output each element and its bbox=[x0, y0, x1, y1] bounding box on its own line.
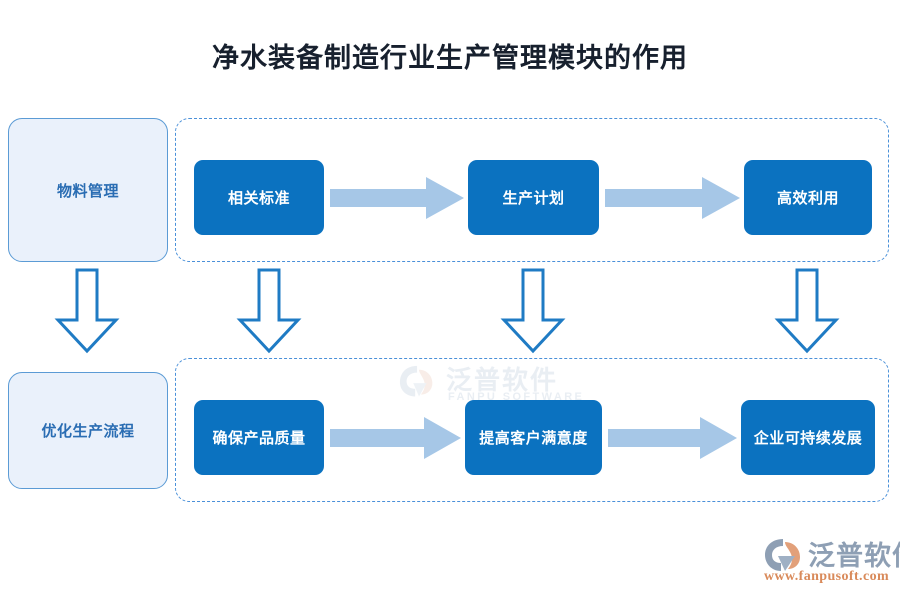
node-bottom-1[interactable]: 确保产品质量 bbox=[194, 400, 324, 475]
node-bottom-3[interactable]: 企业可持续发展 bbox=[741, 400, 875, 475]
node-top-3[interactable]: 高效利用 bbox=[744, 160, 872, 235]
brand-url: www.fanpusoft.com bbox=[764, 569, 889, 585]
down-arrow-2 bbox=[236, 268, 302, 354]
brand-logo: 泛普软件 www.fanpusoft.com bbox=[762, 534, 894, 588]
node-top-2-label: 生产计划 bbox=[502, 189, 564, 207]
node-bottom-3-label: 企业可持续发展 bbox=[754, 429, 863, 447]
fanpu-logo-icon bbox=[764, 538, 808, 572]
brand-name: 泛普软件 bbox=[808, 534, 900, 573]
down-arrow-3 bbox=[500, 268, 566, 354]
arrow-right-top-2 bbox=[605, 175, 740, 221]
node-top-3-label: 高效利用 bbox=[777, 189, 839, 207]
down-arrow-1 bbox=[54, 268, 120, 354]
arrow-right-bottom-1 bbox=[330, 415, 461, 461]
category-card-process[interactable]: 优化生产流程 bbox=[8, 372, 168, 489]
node-bottom-1-label: 确保产品质量 bbox=[212, 429, 305, 447]
arrow-right-top-1 bbox=[330, 175, 464, 221]
category-card-process-label: 优化生产流程 bbox=[41, 420, 134, 441]
node-bottom-2[interactable]: 提高客户满意度 bbox=[465, 400, 602, 475]
node-bottom-2-label: 提高客户满意度 bbox=[479, 429, 588, 447]
category-card-material-label: 物料管理 bbox=[57, 180, 119, 201]
node-top-2[interactable]: 生产计划 bbox=[468, 160, 599, 235]
page-title: 净水装备制造行业生产管理模块的作用 bbox=[0, 36, 900, 75]
down-arrow-4 bbox=[774, 268, 840, 354]
arrow-right-bottom-2 bbox=[608, 415, 737, 461]
diagram-canvas: 净水装备制造行业生产管理模块的作用 泛普软件 FANPU SOFTWARE 物料… bbox=[0, 0, 900, 600]
node-top-1-label: 相关标准 bbox=[228, 189, 290, 207]
node-top-1[interactable]: 相关标准 bbox=[194, 160, 324, 235]
category-card-material[interactable]: 物料管理 bbox=[8, 118, 168, 262]
